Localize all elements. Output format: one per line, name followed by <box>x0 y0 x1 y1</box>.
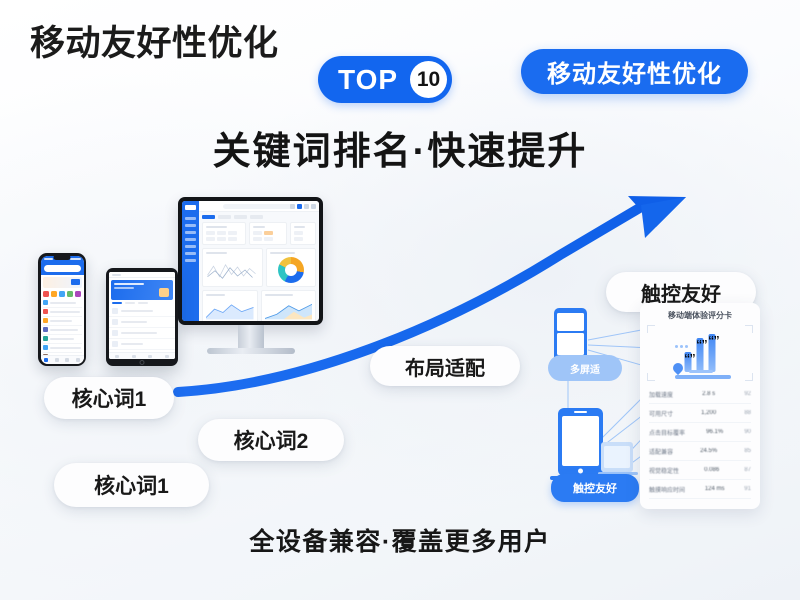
card-label <box>265 294 294 296</box>
hero-bar <box>685 352 692 372</box>
phone-frame <box>38 253 86 366</box>
row-text <box>50 302 76 304</box>
tabbar-icon <box>76 358 80 362</box>
chip <box>217 231 226 235</box>
diagram-pill-multiscreen: 多屏适 <box>548 355 622 381</box>
sidebar-nav-bar <box>185 224 196 227</box>
dashboard-row-1 <box>202 222 316 245</box>
chip <box>228 231 237 235</box>
chip <box>206 237 215 241</box>
row-text <box>121 321 147 323</box>
phone-mockup <box>38 253 86 366</box>
chip <box>264 237 273 241</box>
chip <box>253 231 262 235</box>
phone-banner <box>43 277 82 288</box>
row-thumb <box>112 341 118 347</box>
phone-notch <box>54 255 71 260</box>
dashboard-tab <box>234 215 247 219</box>
card-chips <box>253 231 283 241</box>
card-chips <box>294 231 312 241</box>
card-label <box>270 252 295 254</box>
row-text <box>50 347 81 349</box>
sidebar-nav-bar <box>185 259 196 262</box>
row-text <box>121 343 143 345</box>
row-score: 90 <box>744 429 751 435</box>
topbar-icon <box>311 204 316 209</box>
card-label <box>253 226 265 228</box>
row-name: 触摸响应时间 <box>649 485 685 494</box>
table-row: 触摸响应时间 124 ms 91 <box>649 480 751 499</box>
row-icon <box>43 318 48 323</box>
tabbar-icon <box>165 355 169 358</box>
dot <box>675 345 678 348</box>
tablet-tab <box>138 302 148 304</box>
dot <box>680 345 683 348</box>
area-chart <box>206 299 254 321</box>
card-label <box>206 294 225 296</box>
row-score: 92 <box>744 391 751 397</box>
chip <box>217 237 226 241</box>
sidebar-logo-bar <box>185 205 196 210</box>
tabbar-icon <box>65 358 69 362</box>
row-name: 加载速度 <box>649 390 673 399</box>
page-subtitle: 关键词排名·快速提升 <box>0 120 800 175</box>
dashboard-card <box>290 222 316 245</box>
card-chips <box>206 231 242 241</box>
row-icon <box>43 345 48 350</box>
footer-tagline: 全设备兼容·覆盖更多用户 <box>0 522 800 558</box>
dashboard-line-chart-card <box>202 248 263 287</box>
list-item <box>109 339 175 350</box>
monitor-bezel <box>178 197 323 325</box>
row-name: 可用尺寸 <box>649 409 673 418</box>
dashboard-row-3 <box>202 290 316 321</box>
row-name: 适配兼容 <box>649 447 673 456</box>
row-text <box>50 311 80 313</box>
app-icon <box>59 291 65 297</box>
phone-icon-row <box>41 290 84 299</box>
dashboard-topbar-actions <box>290 204 316 209</box>
dashboard-tab <box>202 215 215 219</box>
tablet-tab <box>112 302 122 304</box>
row-text <box>50 320 72 322</box>
page-title: 移动友好性优化 <box>30 26 279 61</box>
list-item <box>109 328 175 339</box>
tabbar-icon <box>115 355 119 358</box>
phone-list <box>41 299 84 362</box>
card-label <box>206 226 227 228</box>
chip <box>253 237 262 241</box>
topbar-icon <box>297 204 302 209</box>
sidebar-nav-bar <box>185 238 196 241</box>
hero-bar <box>709 334 716 372</box>
tablet-hero-banner <box>111 280 173 300</box>
row-text <box>50 338 74 340</box>
chip <box>264 231 273 235</box>
hero-bar-chart <box>685 334 716 372</box>
area-chart <box>265 299 313 321</box>
list-item <box>43 317 82 326</box>
tablet-topbar <box>109 272 175 278</box>
layout-adapt-pill: 布局适配 <box>370 346 520 386</box>
tabbar-icon <box>148 355 152 358</box>
keyword-pill-2: 核心词2 <box>198 419 344 461</box>
tablet-screen <box>109 272 175 359</box>
bracket-icon <box>745 325 753 333</box>
row-icon <box>43 309 48 314</box>
bracket-icon <box>647 325 655 333</box>
dashboard-search-bar <box>223 204 293 209</box>
sidebar-nav-bar <box>185 217 196 220</box>
row-score: 91 <box>744 486 751 492</box>
table-row: 视觉稳定性 0.086 87 <box>649 461 751 480</box>
phone-search-bar <box>44 265 81 272</box>
monitor-stand <box>238 325 264 348</box>
row-thumb <box>112 308 118 314</box>
app-icon <box>75 291 81 297</box>
topbar-icon <box>290 204 295 209</box>
dashboard-area-chart-card <box>202 290 258 321</box>
tablet-tabbar <box>109 352 175 359</box>
tabbar-icon <box>44 358 48 362</box>
donut-chart <box>278 257 304 283</box>
dashboard-area-chart-card <box>261 290 317 321</box>
tabbar-icon <box>132 355 136 358</box>
row-score: 85 <box>744 448 751 454</box>
app-icon <box>51 291 57 297</box>
row-icon <box>43 300 48 305</box>
bracket-icon <box>647 373 655 381</box>
table-row: 适配兼容 24.5% 85 <box>649 442 751 461</box>
score-card-hero <box>647 325 753 381</box>
list-item <box>43 299 82 308</box>
status-right <box>70 258 81 260</box>
row-value: 124 ms <box>705 486 725 492</box>
status-left <box>44 258 53 260</box>
row-icon <box>43 327 48 332</box>
topbar-icon <box>304 204 309 209</box>
chip <box>294 231 303 235</box>
diagram-pill-touch: 触控友好 <box>551 474 639 502</box>
row-value: 96.1% <box>706 429 723 435</box>
row-value: 2.8 s <box>702 391 715 397</box>
app-icon <box>43 291 49 297</box>
tabbar-icon <box>55 358 59 362</box>
tablet-tab <box>125 302 135 304</box>
dashboard-body <box>199 212 319 321</box>
list-item <box>43 344 82 353</box>
bracket-icon <box>745 373 753 381</box>
row-score: 88 <box>744 410 751 416</box>
row-score: 87 <box>744 467 751 473</box>
row-value: 1,200 <box>701 410 716 416</box>
keyword-pill-1: 核心词1 <box>44 377 174 419</box>
dashboard-tab <box>218 215 231 219</box>
card-label <box>206 252 227 254</box>
dashboard-topbar <box>199 201 319 212</box>
table-row: 可用尺寸 1,200 88 <box>649 404 751 423</box>
poster-canvas: 移动友好性优化 TOP 10 移动友好性优化 关键词排名·快速提升 <box>0 0 800 600</box>
sidebar-nav-bar <box>185 245 196 248</box>
top-rank-badge: TOP 10 <box>318 56 452 103</box>
card-label <box>294 226 305 228</box>
list-item <box>43 335 82 344</box>
row-value: 0.086 <box>704 467 719 473</box>
banner-card <box>71 279 80 285</box>
sidebar-nav-bar <box>185 231 196 234</box>
dashboard-donut-card <box>266 248 316 287</box>
dashboard-tabs <box>202 215 316 219</box>
hero-title-bar <box>114 283 144 285</box>
desktop-monitor-mockup <box>178 197 323 354</box>
row-text <box>121 310 153 312</box>
chip <box>206 231 215 235</box>
chip <box>228 237 237 241</box>
list-item <box>109 306 175 317</box>
phone-screen <box>41 256 84 364</box>
phone-tabbar <box>41 355 84 364</box>
hero-base-bar <box>675 375 731 379</box>
hero-bar <box>697 338 704 372</box>
monitor-foot <box>207 348 295 354</box>
monitor-screen <box>182 201 319 321</box>
row-name: 点击目标覆率 <box>649 428 685 437</box>
row-thumb <box>112 319 118 325</box>
tablet-home-button <box>140 360 145 365</box>
list-item <box>43 326 82 335</box>
location-pin-icon <box>671 361 685 375</box>
tablet-frame <box>106 268 178 366</box>
dashboard-card <box>249 222 287 245</box>
row-text <box>50 329 78 331</box>
hero-thumb <box>159 288 169 297</box>
row-thumb <box>112 330 118 336</box>
tablet-mockup <box>106 268 178 366</box>
mobile-score-card: 移动端体验评分卡 加载速度 2.8 s 92 <box>640 303 760 509</box>
row-text <box>121 332 157 334</box>
row-icon <box>43 336 48 341</box>
table-row: 点击目标覆率 96.1% 90 <box>649 423 751 442</box>
hero-sub-bar <box>114 287 134 289</box>
sidebar-nav-bar <box>185 252 196 255</box>
score-card-title: 移动端体验评分卡 <box>640 303 760 325</box>
row-value: 24.5% <box>700 448 717 454</box>
topbar-label <box>112 274 121 276</box>
dashboard-row-2 <box>202 248 316 287</box>
app-icon <box>67 291 73 297</box>
keyword-pill-3: 核心词1 <box>54 463 209 507</box>
top-badge-word: TOP <box>338 64 398 96</box>
row-name: 视觉稳定性 <box>649 466 679 475</box>
chip <box>294 237 303 241</box>
dashboard-sidebar <box>182 201 199 321</box>
top-badge-number: 10 <box>410 61 447 98</box>
hero-base-line <box>689 370 713 373</box>
mini-tablet-illustration <box>598 442 638 475</box>
list-item <box>43 308 82 317</box>
dashboard-card <box>202 222 246 245</box>
list-item <box>109 317 175 328</box>
header-blue-pill: 移动友好性优化 <box>521 49 748 94</box>
score-card-rows: 加载速度 2.8 s 92 可用尺寸 1,200 88 点击目标覆率 96.1%… <box>640 381 760 499</box>
line-chart <box>206 257 259 283</box>
table-row: 加载速度 2.8 s 92 <box>649 385 751 404</box>
dashboard-tab <box>250 215 263 219</box>
